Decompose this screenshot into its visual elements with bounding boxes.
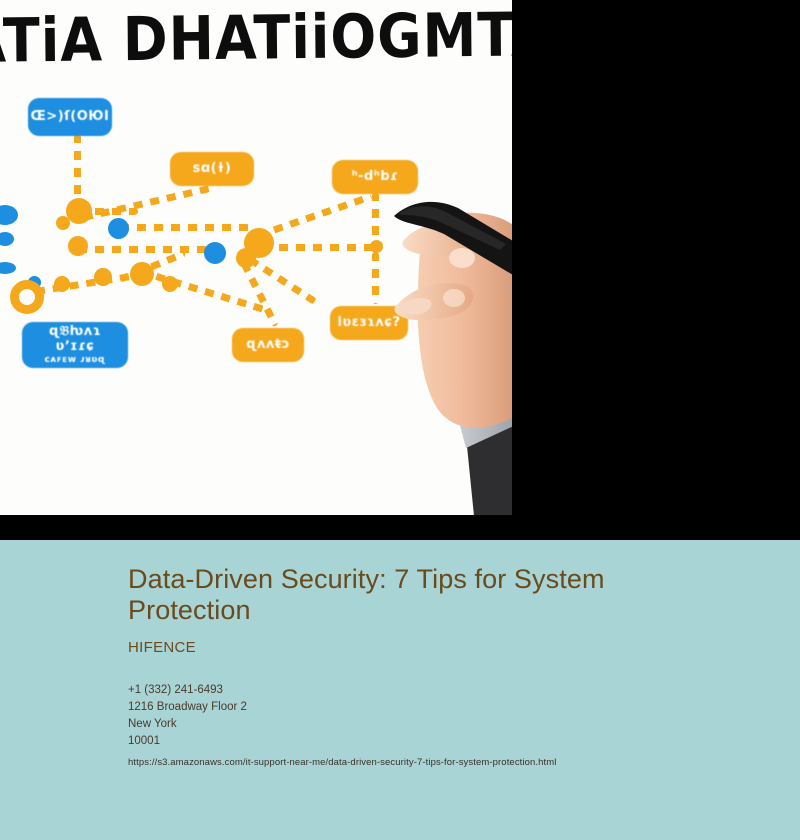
connector-right-bottom-vert xyxy=(372,252,379,304)
diagram-label-top-left: Œ>)ſ(ОЮI xyxy=(28,98,112,136)
hub-node-left xyxy=(66,198,92,224)
connector-left-3 xyxy=(78,246,208,253)
connector-right-top-vert xyxy=(372,192,379,240)
connector-left-2 xyxy=(120,224,250,231)
hub-node-upper-left xyxy=(68,236,88,256)
connector-top-left-vert xyxy=(74,134,81,200)
node-edge-left-blue-2 xyxy=(0,232,14,246)
node-diamond-hub xyxy=(130,262,154,286)
hand-marker-graphic xyxy=(388,186,512,515)
node-right-small xyxy=(370,240,383,253)
whiteboard-illustration: ATiA DHATiiOGMTA xyxy=(0,0,512,515)
node-lower-right xyxy=(162,276,178,292)
source-url[interactable]: https://s3.amazonaws.com/it-support-near… xyxy=(128,757,670,768)
connector-to-network-label xyxy=(83,185,211,221)
diagram-label-network-text: sɑ(ɫ) xyxy=(193,162,232,177)
whiteboard-heading-text: ATiA DHATiiOGMTA xyxy=(0,0,512,77)
knuckle-highlight-2 xyxy=(443,289,465,307)
knuckle-highlight-1 xyxy=(449,248,475,268)
diagram-label-bottom-left-text: ɋ𝔅ƕʌɿ ʋʼɪɾɕ xyxy=(31,325,119,355)
diagram-label-bottom-left-subtext: ᴄᴀꜰᴇᴡ ᴊᴚʋɋ xyxy=(44,355,105,365)
diagram-label-bottom-mid: ɋʌʌŧɔ xyxy=(232,328,304,362)
diagram-label-top-left-text: Œ>)ſ(ОЮI xyxy=(31,110,110,125)
node-lower-small xyxy=(54,276,70,292)
contact-address: 1216 Broadway Floor 2 xyxy=(128,699,670,716)
node-ring-lower-left xyxy=(10,280,44,314)
diagram-label-network: sɑ(ɫ) xyxy=(170,152,254,186)
brand-name: HIFENCE xyxy=(128,639,670,656)
node-center-orange-small xyxy=(236,248,256,268)
article-info-panel: Data-Driven Security: 7 Tips for System … xyxy=(0,540,800,840)
contact-postal-code: 10001 xyxy=(128,733,670,750)
diagram-label-bottom-left: ɋ𝔅ƕʌɿ ʋʼɪɾɕ ᴄᴀꜰᴇᴡ ᴊᴚʋɋ xyxy=(22,322,128,368)
node-mid-small xyxy=(56,216,70,230)
contact-city: New York xyxy=(128,716,670,733)
node-edge-left-blue xyxy=(0,205,18,225)
node-edge-left-blue-3 xyxy=(0,262,16,274)
connector-center-right xyxy=(262,244,382,251)
diagram-label-bottom-mid-text: ɋʌʌŧɔ xyxy=(246,338,290,353)
hero-media-band: ATiA DHATiiOGMTA xyxy=(0,0,800,540)
contact-phone: +1 (332) 241-6493 xyxy=(128,682,670,699)
node-center-blue-2 xyxy=(204,242,226,264)
connector-center-upright xyxy=(257,193,373,239)
diagram-label-right-top-text: ʰ-dʰbɾ xyxy=(352,170,399,185)
node-center-blue xyxy=(108,218,129,239)
hand-with-marker xyxy=(388,186,512,515)
page-title: Data-Driven Security: 7 Tips for System … xyxy=(128,564,670,627)
contact-block: +1 (332) 241-6493 1216 Broadway Floor 2 … xyxy=(128,682,670,750)
node-lower-mid xyxy=(94,268,112,286)
